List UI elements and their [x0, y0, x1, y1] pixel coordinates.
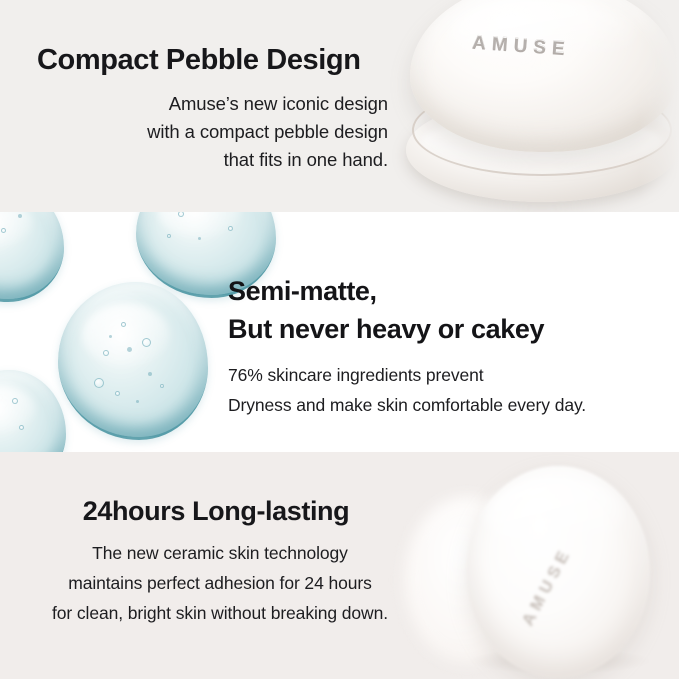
panel2-body-line-1: 76% skincare ingredients prevent: [228, 360, 586, 390]
panel1-edge-fade: [639, 0, 679, 212]
product-detail-image: AMUSE Compact Pebble Design Amuse’s new …: [0, 0, 679, 679]
panel2-heading-line-1: Semi-matte,: [228, 272, 544, 310]
panel-24hours-long-lasting: AMUSE 24hours Long-lasting The new ceram…: [0, 452, 679, 679]
panel3-body-line-3: for clean, bright skin without breaking …: [0, 598, 440, 628]
amuse-logo-embossed: AMUSE: [517, 487, 605, 629]
panel3-body-line-2: maintains perfect adhesion for 24 hours: [0, 568, 440, 598]
panel1-heading: Compact Pebble Design: [37, 44, 361, 77]
product-image-compact-foreground: AMUSE: [466, 466, 650, 678]
panel2-heading-line-2: But never heavy or cakey: [228, 310, 544, 348]
product-image-pebble-compact: AMUSE: [398, 0, 679, 212]
panel3-text-block: 24hours Long-lasting The new ceramic ski…: [0, 452, 470, 679]
panel1-body-line-2: with a compact pebble design: [0, 118, 388, 146]
panel1-body-line-1: Amuse’s new iconic design: [0, 90, 388, 118]
panel-semi-matte: Semi-matte, But never heavy or cakey 76%…: [0, 212, 679, 452]
panel1-body: Amuse’s new iconic design with a compact…: [0, 90, 388, 174]
gel-droplet-top-left: [0, 212, 64, 302]
compact-lid: AMUSE: [410, 0, 678, 152]
panel3-body: The new ceramic skin technology maintain…: [0, 538, 440, 628]
panel3-body-line-1: The new ceramic skin technology: [0, 538, 440, 568]
panel3-heading: 24hours Long-lasting: [0, 496, 432, 527]
panel1-body-line-3: that fits in one hand.: [0, 146, 388, 174]
gel-droplet-center: [58, 282, 208, 440]
panel1-text-block: Compact Pebble Design Amuse’s new iconic…: [0, 0, 420, 212]
panel2-body-line-2: Dryness and make skin comfortable every …: [228, 390, 586, 420]
panel-compact-pebble-design: AMUSE Compact Pebble Design Amuse’s new …: [0, 0, 679, 212]
panel2-heading: Semi-matte, But never heavy or cakey: [228, 272, 544, 348]
panel2-text-block: Semi-matte, But never heavy or cakey 76%…: [228, 212, 679, 452]
gel-droplet-bottom-left: [0, 370, 66, 452]
panel2-body: 76% skincare ingredients prevent Dryness…: [228, 360, 586, 420]
